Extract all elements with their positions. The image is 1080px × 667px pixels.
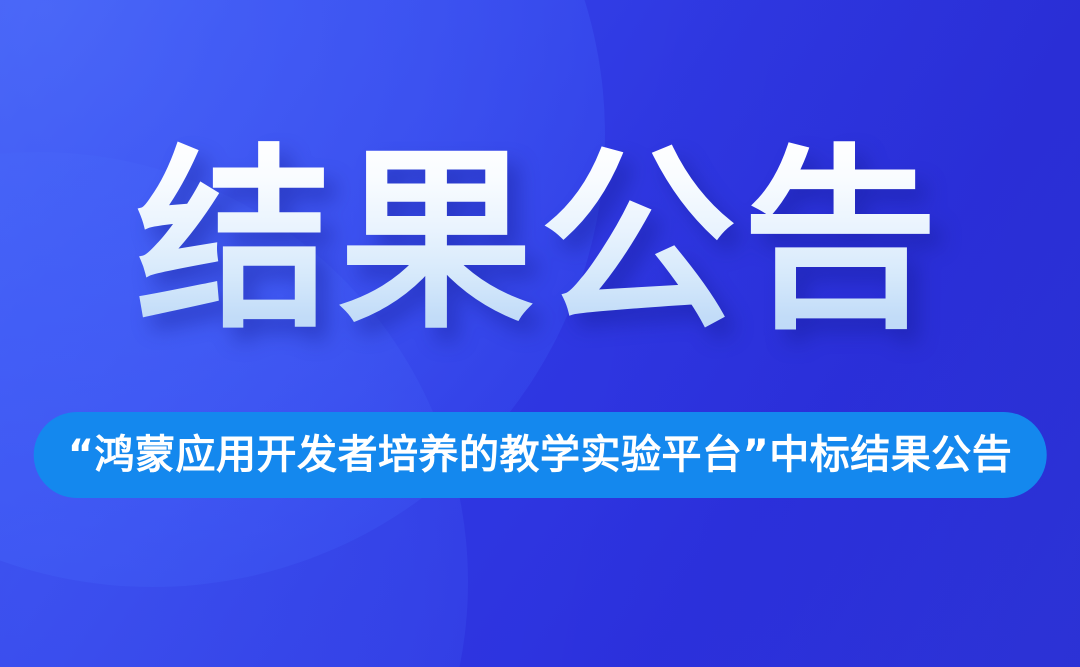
headline-wrapper: 结果公告 [0,140,1080,346]
page-title: 结果公告 [136,140,944,346]
subtitle-pill: “鸿蒙应用开发者培养的教学实验平台”中标结果公告 [34,412,1047,498]
subtitle-text: “鸿蒙应用开发者培养的教学实验平台”中标结果公告 [68,435,1013,475]
result-announcement-banner: 结果公告 “鸿蒙应用开发者培养的教学实验平台”中标结果公告 [0,0,1080,667]
banner-content: 结果公告 “鸿蒙应用开发者培养的教学实验平台”中标结果公告 [0,0,1080,667]
